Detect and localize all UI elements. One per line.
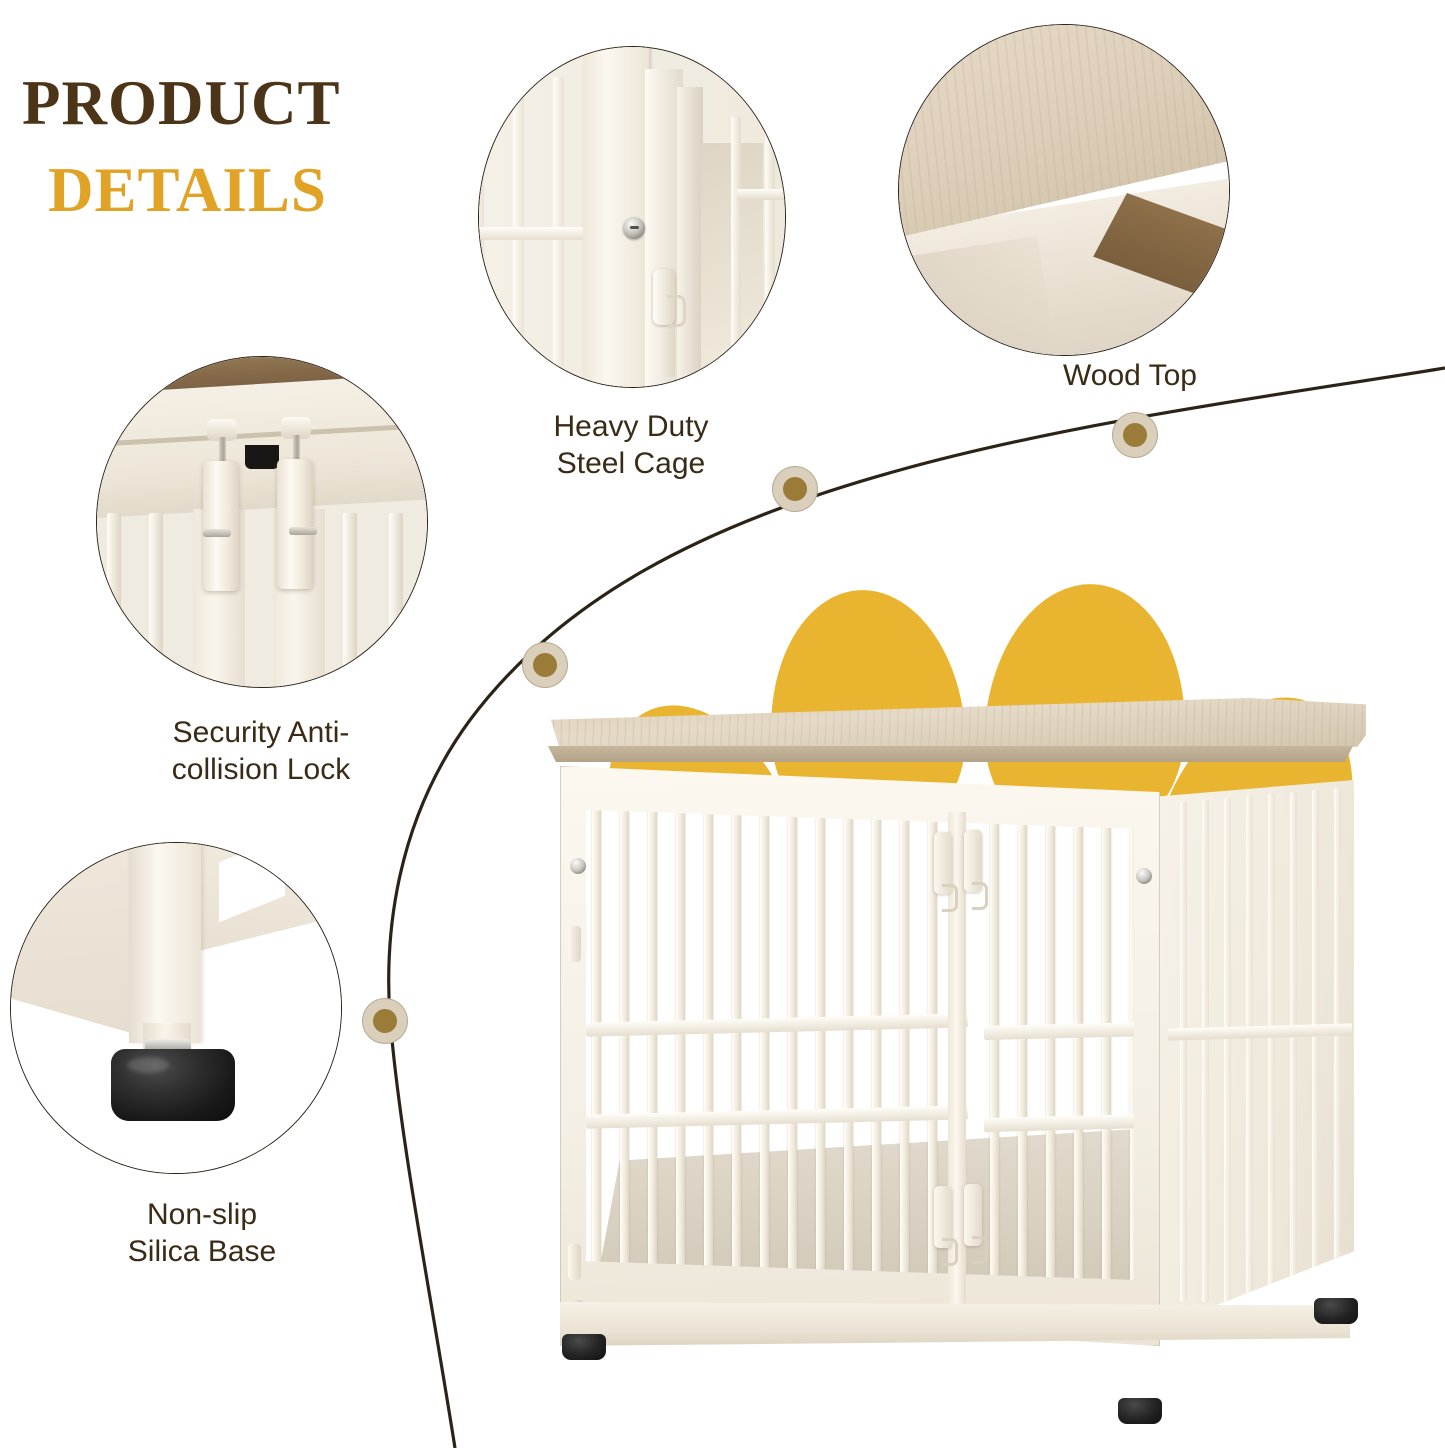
- connector-dot-base: [362, 998, 408, 1044]
- crate-front-opening: [586, 810, 1134, 1280]
- caption-line-2: Steel Cage: [466, 445, 796, 482]
- caption-line-2: Silica Base: [52, 1233, 352, 1270]
- title-line-product: PRODUCT: [22, 72, 341, 135]
- cage-bars-group: [478, 77, 587, 367]
- lock-photo-content: [97, 357, 427, 687]
- cage-corner-post: [583, 46, 649, 388]
- screw-icon-side-upper: [1136, 868, 1152, 884]
- door-gap-shadow: [245, 445, 279, 469]
- crate-foot-back-right: [1118, 1398, 1162, 1424]
- crate-foot-front-left: [562, 1334, 606, 1360]
- infographic-canvas: PRODUCT DETAILS: [0, 0, 1445, 1448]
- caption-line-2: collision Lock: [86, 751, 436, 788]
- slide-bolt-left: [203, 461, 239, 591]
- caption-heavy-duty-steel-cage: Heavy Duty Steel Cage: [466, 408, 796, 482]
- crate-bars-and-interior: [586, 810, 1134, 1280]
- bolt-tab-left: [203, 529, 231, 537]
- caption-wood-top: Wood Top: [985, 357, 1275, 394]
- caption-security-lock: Security Anti- collision Lock: [86, 714, 436, 788]
- caption-line-1: Security Anti-: [86, 714, 436, 751]
- door-latch-hook-lower-left[interactable]: [942, 1238, 958, 1266]
- cage-door-frame: [677, 87, 703, 387]
- crate-front-face: [560, 766, 1160, 1346]
- crate-leg: [129, 842, 201, 1043]
- foot-highlight: [127, 1057, 169, 1073]
- detail-photo-wood-top: [898, 24, 1230, 356]
- crate-foot-front-right: [1314, 1298, 1358, 1324]
- body-shading: [898, 236, 1056, 356]
- caption-line-1: Non-slip: [52, 1196, 352, 1233]
- caption-silica-base: Non-slip Silica Base: [52, 1196, 352, 1270]
- dog-crate-end-table: [518, 698, 1398, 1398]
- door-latch-hook-upper-left[interactable]: [942, 884, 958, 912]
- door-hinge-lower: [568, 1244, 581, 1280]
- screw-icon-upper: [570, 858, 586, 874]
- slide-bolt-right: [277, 459, 313, 589]
- caption-line-1: Wood Top: [985, 357, 1275, 394]
- crate-body: [560, 756, 1350, 1346]
- cage-side-rail: [737, 189, 786, 200]
- detail-photo-heavy-duty-steel-cage: [478, 46, 786, 388]
- wood-top-photo-content: [899, 25, 1229, 355]
- page-title: PRODUCT DETAILS: [22, 72, 341, 222]
- product-hero-image: [470, 540, 1445, 1448]
- crate-side-panel: [1158, 780, 1354, 1328]
- title-line-details: DETAILS: [48, 159, 341, 222]
- caption-line-1: Heavy Duty: [466, 408, 796, 445]
- detail-photo-security-lock: [96, 356, 428, 688]
- detail-photo-silica-base: [10, 842, 342, 1174]
- cabinet-panel-left: [10, 842, 131, 1033]
- latch-hook: [667, 295, 686, 327]
- bolt-tab-right: [289, 527, 317, 535]
- steel-cage-photo-content: [479, 47, 785, 387]
- connector-dot-wood-top: [1112, 412, 1158, 458]
- door-latch-hook-upper-right[interactable]: [972, 882, 988, 910]
- silica-base-photo-content: [11, 843, 341, 1173]
- screw-icon: [623, 217, 645, 239]
- door-hinge-upper: [568, 926, 581, 962]
- door-latch-hook-lower-right[interactable]: [972, 1236, 988, 1264]
